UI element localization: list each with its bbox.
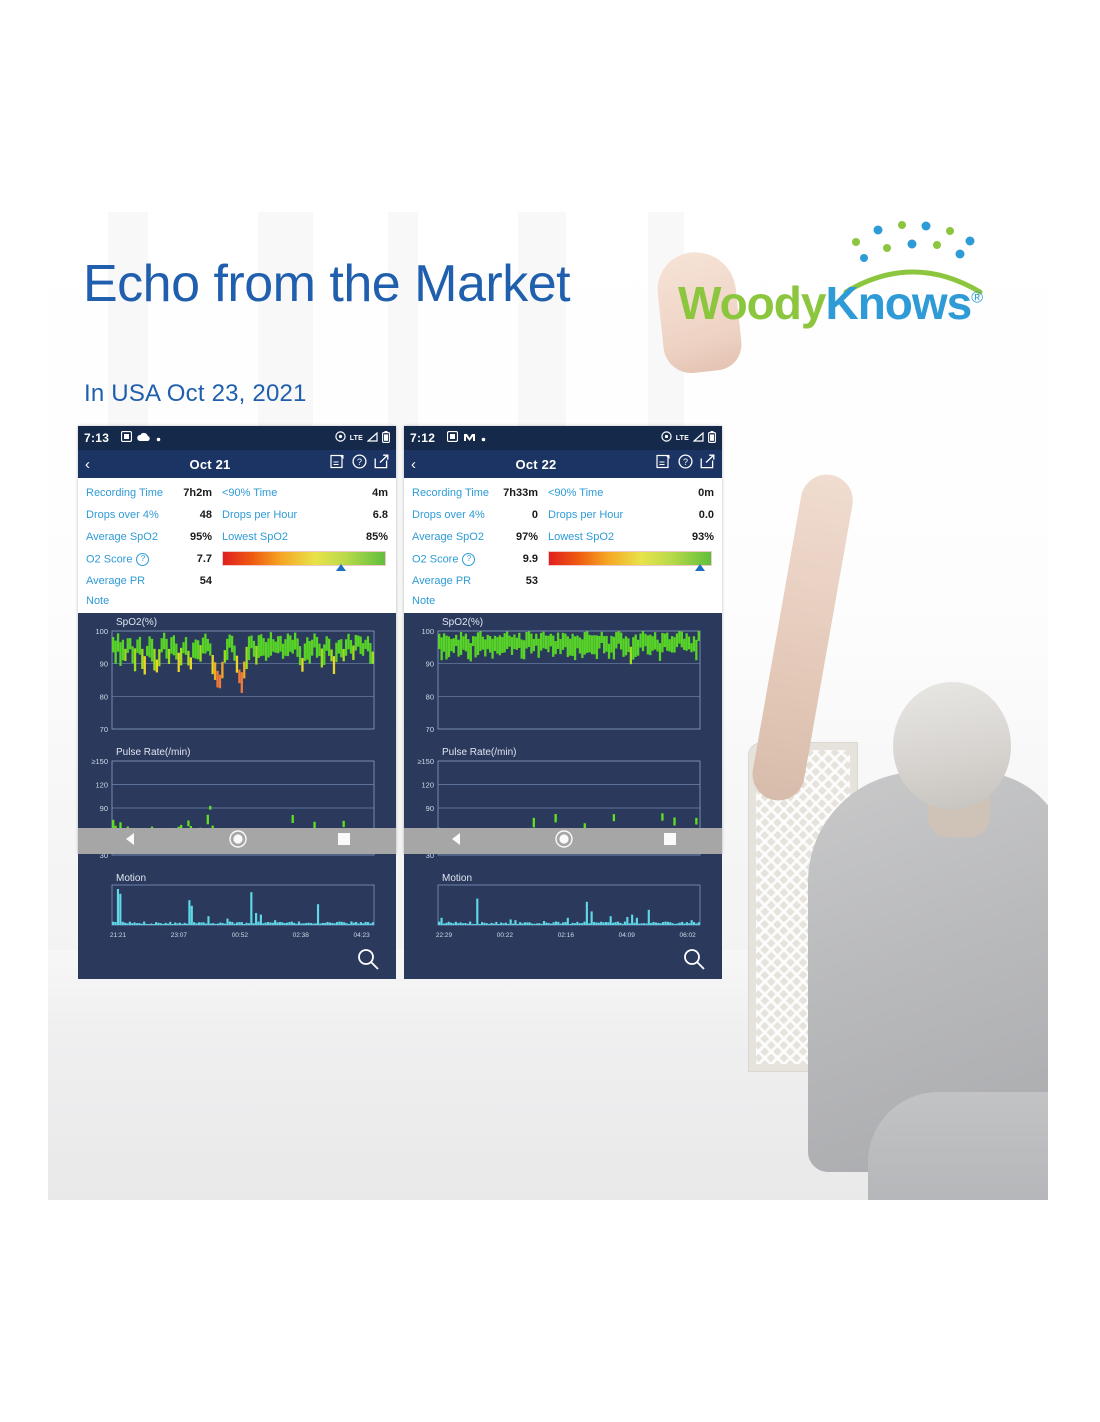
- pulse-rate-chart-title: Pulse Rate(/min): [442, 747, 516, 758]
- circle-home-icon[interactable]: [555, 830, 573, 853]
- average-spo2-label: Average SpO2: [86, 531, 168, 543]
- lowest-spo2-label: Lowest SpO2: [538, 531, 640, 543]
- o2-score-marker: [695, 564, 705, 571]
- svg-text:120: 120: [421, 781, 434, 790]
- woodyknows-logo: WoodyKnows®: [678, 214, 998, 334]
- lowest-spo2-label: Lowest SpO2: [212, 531, 314, 543]
- average-spo2-value: 95%: [168, 531, 212, 543]
- stat-row-average-spo2: Average SpO2 95% Lowest SpO2 85%: [86, 526, 388, 548]
- summary-stats-panel: Recording Time 7h2m <90% Time 4m Drops o…: [78, 478, 396, 613]
- share-icon[interactable]: [700, 454, 715, 474]
- status-bar: 7:13 LTE: [78, 426, 396, 450]
- signal-icon: [367, 431, 378, 445]
- svg-text:70: 70: [100, 725, 108, 734]
- search-row: [78, 945, 396, 979]
- svg-text:21:21: 21:21: [110, 932, 127, 939]
- motion-chart[interactable]: Motion 21:2123:0700:5202:3804:23: [82, 873, 390, 945]
- o2-score-value: 7.7: [168, 553, 212, 565]
- svg-text:04:09: 04:09: [619, 932, 636, 939]
- logo-registered-mark: ®: [971, 290, 982, 307]
- app-bar-title: Oct 21: [90, 457, 330, 472]
- svg-text:00:52: 00:52: [232, 932, 249, 939]
- motion-chart-title: Motion: [442, 873, 472, 884]
- svg-text:90: 90: [426, 660, 434, 669]
- average-spo2-value: 97%: [494, 531, 538, 543]
- charts-area: SpO2(%) 708090100 Pulse Rate(/min) 30609…: [404, 613, 722, 979]
- o2-score-label: O2 Score: [412, 553, 458, 565]
- drops-per-hour-value: 0.0: [640, 509, 714, 521]
- app-bar-title: Oct 22: [416, 457, 656, 472]
- drops-per-hour-value: 6.8: [314, 509, 388, 521]
- search-row: [404, 945, 722, 979]
- mail-icon: [463, 431, 476, 445]
- person-head: [893, 682, 1011, 810]
- edit-icon[interactable]: [330, 454, 345, 474]
- under90-time-value: 0m: [640, 487, 714, 499]
- o2-score-gradient-bar: [222, 551, 386, 566]
- alarm-icon: [661, 431, 672, 445]
- recording-time-value: 7h33m: [494, 487, 538, 499]
- o2-score-label-wrap: O2 Score?: [412, 553, 494, 566]
- spo2-chart[interactable]: SpO2(%) 708090100: [82, 617, 390, 745]
- svg-text:100: 100: [421, 627, 434, 636]
- lowest-spo2-value: 93%: [640, 531, 714, 543]
- logo-dots-icon: [852, 221, 975, 262]
- drops-per-hour-label: Drops per Hour: [212, 509, 314, 521]
- spo2-chart-title: SpO2(%): [116, 617, 157, 628]
- battery-icon: [382, 431, 390, 446]
- svg-text:≥150: ≥150: [91, 757, 108, 766]
- svg-text:120: 120: [95, 781, 108, 790]
- drops-over-4-value: 48: [168, 509, 212, 521]
- page-title: Echo from the Market: [83, 254, 570, 314]
- status-time: 7:12: [410, 431, 435, 445]
- average-pr-label: Average PR: [412, 575, 494, 587]
- motion-chart-title: Motion: [116, 873, 146, 884]
- spo2-chart-title: SpO2(%): [442, 617, 483, 628]
- under90-time-label: <90% Time: [212, 487, 314, 499]
- magnifier-icon[interactable]: [356, 947, 380, 976]
- help-icon[interactable]: ?: [136, 553, 149, 566]
- svg-text:90: 90: [100, 804, 108, 813]
- recording-time-value: 7h2m: [168, 487, 212, 499]
- average-pr-value: 54: [168, 575, 212, 587]
- svg-text:02:16: 02:16: [558, 932, 575, 939]
- svg-text:06:02: 06:02: [680, 932, 697, 939]
- phone-screenshot-oct22: 7:12 LTE: [404, 426, 722, 854]
- status-bar: 7:12 LTE: [404, 426, 722, 450]
- o2-score-label: O2 Score: [86, 553, 132, 565]
- stat-row-drops-over-4: Drops over 4% 48 Drops per Hour 6.8: [86, 504, 388, 526]
- drops-per-hour-label: Drops per Hour: [538, 509, 640, 521]
- square-recents-icon[interactable]: [337, 832, 351, 851]
- svg-text:90: 90: [100, 660, 108, 669]
- signal-icon: [693, 431, 704, 445]
- circle-home-icon[interactable]: [229, 830, 247, 853]
- magnifier-icon[interactable]: [682, 947, 706, 976]
- svg-text:02:38: 02:38: [293, 932, 310, 939]
- note-label[interactable]: Note: [86, 592, 388, 610]
- svg-text:≥150: ≥150: [417, 757, 434, 766]
- svg-text:70: 70: [426, 725, 434, 734]
- motion-chart[interactable]: Motion 22:2900:2202:1604:0906:02: [408, 873, 716, 945]
- under90-time-label: <90% Time: [538, 487, 640, 499]
- stat-row-o2-score: O2 Score? 7.7: [86, 548, 388, 570]
- battery-icon: [708, 431, 716, 446]
- note-label[interactable]: Note: [412, 592, 714, 610]
- triangle-back-icon[interactable]: [123, 831, 139, 852]
- stat-row-o2-score: O2 Score? 9.9: [412, 548, 714, 570]
- average-pr-label: Average PR: [86, 575, 168, 587]
- svg-text:80: 80: [100, 692, 108, 701]
- stat-row-average-pr: Average PR 53: [412, 570, 714, 592]
- stat-row-recording-time: Recording Time 7h2m <90% Time 4m: [86, 482, 388, 504]
- person-lap: [868, 1092, 1048, 1200]
- promo-photo: Echo from the Market In USA Oct 23, 2021…: [48, 212, 1048, 1200]
- average-pr-value: 53: [494, 575, 538, 587]
- share-icon[interactable]: [374, 454, 389, 474]
- status-time: 7:13: [84, 431, 109, 445]
- charts-area: SpO2(%) 708090100 Pulse Rate(/min) 30609…: [78, 613, 396, 979]
- stat-row-drops-over-4: Drops over 4% 0 Drops per Hour 0.0: [412, 504, 714, 526]
- edit-icon[interactable]: [656, 454, 671, 474]
- o2-score-gauge: [538, 548, 714, 570]
- square-recents-icon[interactable]: [663, 832, 677, 851]
- spo2-chart[interactable]: SpO2(%) 708090100: [408, 617, 716, 745]
- help-icon[interactable]: ?: [678, 454, 693, 474]
- o2-score-marker: [336, 564, 346, 571]
- under90-time-value: 4m: [314, 487, 388, 499]
- page-subtitle: In USA Oct 23, 2021: [84, 380, 307, 408]
- sim-card-icon: [447, 431, 458, 445]
- phone-screenshot-oct21: 7:13 LTE: [78, 426, 396, 854]
- app-bar: ‹ Oct 21 ?: [78, 450, 396, 478]
- help-icon[interactable]: ?: [462, 553, 475, 566]
- average-spo2-label: Average SpO2: [412, 531, 494, 543]
- svg-text:100: 100: [95, 627, 108, 636]
- o2-score-label-wrap: O2 Score?: [86, 553, 168, 566]
- logo-word-knows: Knows: [825, 277, 971, 329]
- lowest-spo2-value: 85%: [314, 531, 388, 543]
- android-nav-bar: [78, 828, 396, 854]
- drops-over-4-label: Drops over 4%: [86, 509, 168, 521]
- app-bar: ‹ Oct 22 ?: [404, 450, 722, 478]
- svg-text:00:22: 00:22: [497, 932, 514, 939]
- logo-word-woody: Woody: [678, 277, 825, 329]
- svg-text:22:29: 22:29: [436, 932, 453, 939]
- logo-wordmark: WoodyKnows®: [678, 276, 982, 330]
- recording-time-label: Recording Time: [86, 487, 168, 499]
- recording-time-label: Recording Time: [412, 487, 494, 499]
- drops-over-4-value: 0: [494, 509, 538, 521]
- triangle-back-icon[interactable]: [449, 831, 465, 852]
- svg-text:80: 80: [426, 692, 434, 701]
- android-nav-bar: [404, 828, 722, 854]
- svg-text:90: 90: [426, 804, 434, 813]
- svg-text:23:07: 23:07: [171, 932, 188, 939]
- help-icon[interactable]: ?: [352, 454, 367, 474]
- pulse-rate-chart-title: Pulse Rate(/min): [116, 747, 190, 758]
- svg-text:?: ?: [683, 457, 688, 467]
- o2-score-value: 9.9: [494, 553, 538, 565]
- dot-icon: [481, 431, 486, 445]
- dot-icon: [156, 431, 161, 445]
- lte-icon: LTE: [350, 435, 363, 442]
- summary-stats-panel: Recording Time 7h33m <90% Time 0m Drops …: [404, 478, 722, 613]
- svg-text:04:23: 04:23: [354, 932, 371, 939]
- cloud-icon: [137, 431, 151, 445]
- stat-row-average-pr: Average PR 54: [86, 570, 388, 592]
- sim-card-icon: [121, 431, 132, 445]
- drops-over-4-label: Drops over 4%: [412, 509, 494, 521]
- o2-score-gauge: [212, 548, 388, 570]
- stat-row-average-spo2: Average SpO2 97% Lowest SpO2 93%: [412, 526, 714, 548]
- alarm-icon: [335, 431, 346, 445]
- stat-row-recording-time: Recording Time 7h33m <90% Time 0m: [412, 482, 714, 504]
- lte-icon: LTE: [676, 435, 689, 442]
- o2-score-gradient-bar: [548, 551, 712, 566]
- svg-text:?: ?: [357, 457, 362, 467]
